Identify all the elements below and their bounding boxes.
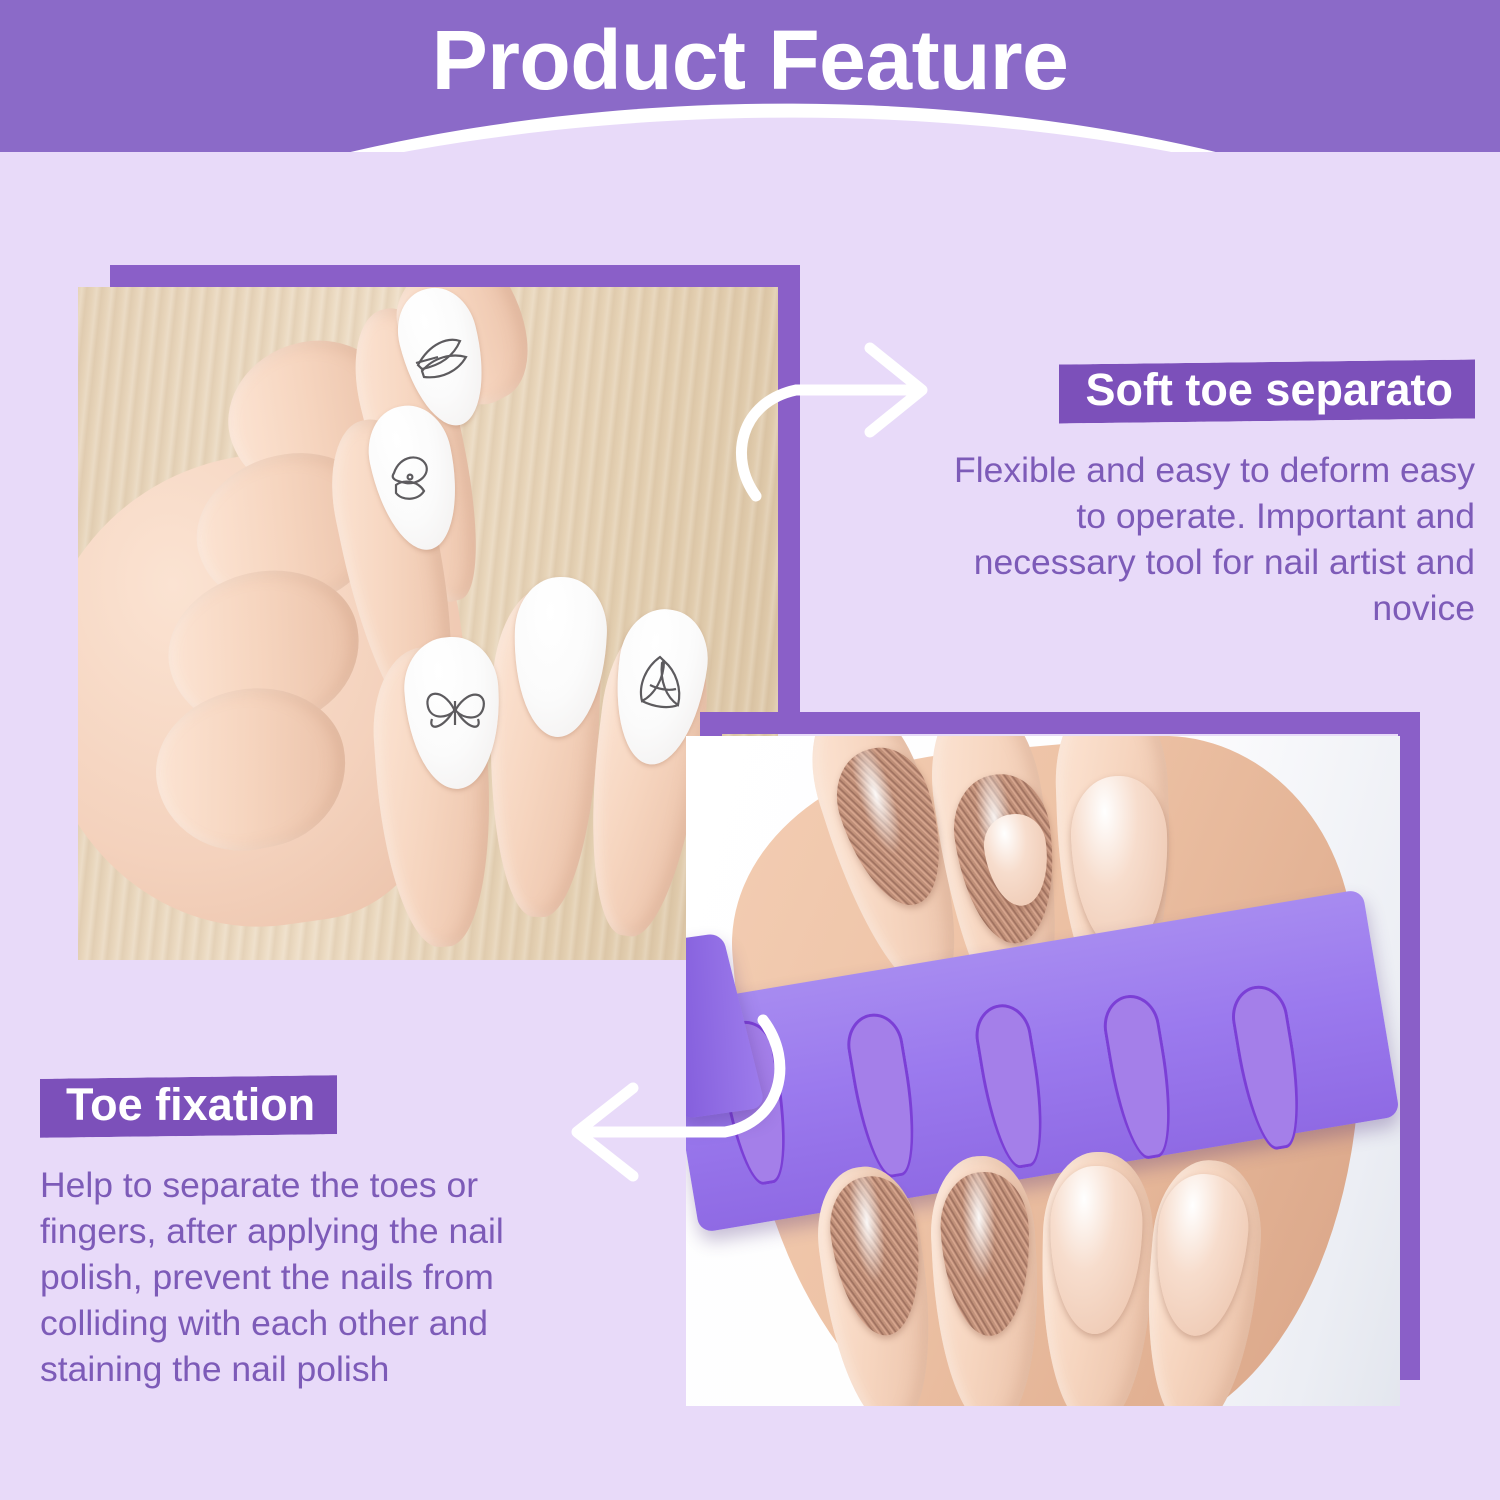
separator-slot	[842, 1009, 924, 1181]
nail-decal-floral-icon	[620, 637, 696, 729]
curved-arrow-left-icon	[545, 1010, 805, 1230]
nail-decal-flower-icon	[376, 439, 446, 519]
feature-heading-text: Toe fixation	[66, 1079, 315, 1130]
photo-hand-white-nails	[78, 287, 778, 960]
heading-wrap: Soft toe separato	[930, 358, 1475, 425]
feature-body-toe-fixation: Help to separate the toes or fingers, af…	[40, 1162, 600, 1393]
separator-slot	[971, 1000, 1053, 1172]
feature-body-soft-toe-separator: Flexible and easy to deform easy to oper…	[930, 447, 1475, 632]
product-feature-infographic: Product Feature	[0, 0, 1500, 1500]
page-title: Product Feature	[0, 16, 1500, 104]
brush-edge-right	[332, 1077, 350, 1132]
separator-slot	[1227, 981, 1309, 1153]
brush-edge-left	[1046, 366, 1064, 421]
brush-edge-right	[1470, 361, 1488, 416]
feature-heading-text: Soft toe separato	[1085, 364, 1453, 415]
separator-slot	[1099, 991, 1181, 1163]
nail-decal-leaf-icon	[408, 321, 478, 401]
heading-wrap: Toe fixation	[40, 1073, 600, 1140]
nail-decal-butterfly-icon	[418, 669, 494, 755]
curved-arrow-right-icon	[718, 318, 968, 518]
feature-heading-toe-fixation: Toe fixation	[40, 1073, 337, 1140]
feature-block-toe-fixation: Toe fixation Help to separate the toes o…	[40, 1073, 600, 1393]
feature-heading-soft-toe-separator: Soft toe separato	[1059, 358, 1475, 425]
brush-edge-left	[27, 1081, 45, 1136]
feature-block-soft-toe-separator: Soft toe separato Flexible and easy to d…	[930, 358, 1475, 631]
